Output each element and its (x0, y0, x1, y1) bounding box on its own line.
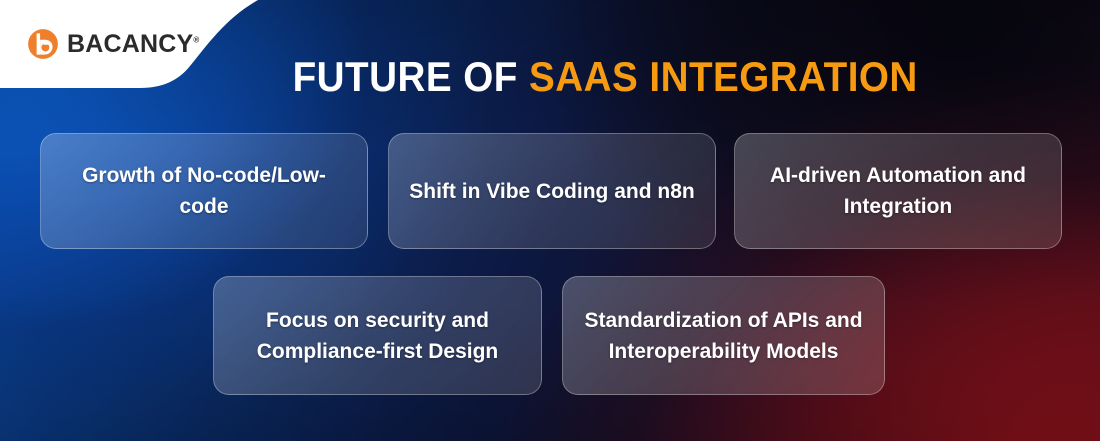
page-title-accent: SAAS INTEGRATION (529, 53, 918, 100)
feature-card-growth-no-code-low-code[interactable]: Growth of No-code/Low-code (40, 133, 368, 249)
registered-trademark-mark: ® (193, 35, 199, 44)
feature-card-standardization-apis-interoperability[interactable]: Standardization of APIs and Interoperabi… (562, 276, 885, 395)
feature-card-label: AI-driven Automation and Integration (753, 160, 1043, 222)
feature-card-label: Standardization of APIs and Interoperabi… (581, 305, 866, 367)
page-title-primary: FUTURE OF (293, 53, 529, 100)
feature-card-label: Shift in Vibe Coding and n8n (409, 176, 694, 207)
page-title: FUTURE OF SAAS INTEGRATION (44, 52, 1056, 102)
feature-card-shift-vibe-coding-n8n[interactable]: Shift in Vibe Coding and n8n (388, 133, 716, 249)
feature-card-label: Growth of No-code/Low-code (59, 160, 349, 222)
feature-card-security-compliance-first-design[interactable]: Focus on security and Compliance-first D… (213, 276, 542, 395)
feature-card-label: Focus on security and Compliance-first D… (232, 305, 523, 367)
feature-card-ai-driven-automation-integration[interactable]: AI-driven Automation and Integration (734, 133, 1062, 249)
infographic-canvas: BACANCY® FUTURE OF SAAS INTEGRATION Grow… (0, 0, 1100, 441)
